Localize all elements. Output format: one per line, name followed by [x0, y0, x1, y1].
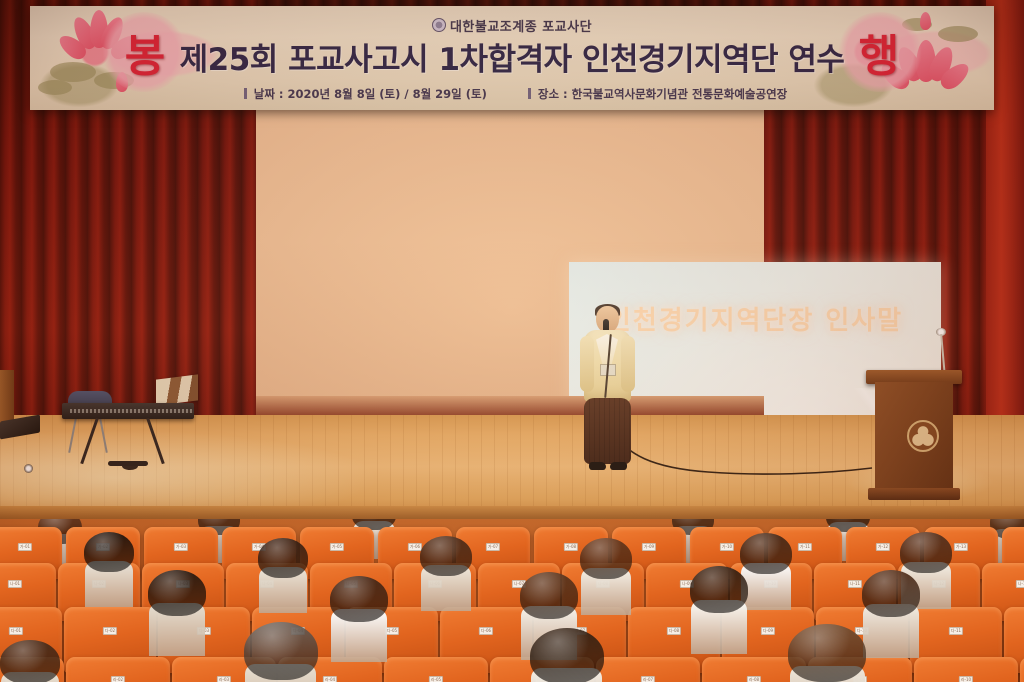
seat-number-label: 다-01 [9, 627, 23, 635]
banner-subline: 날짜 : 2020년 8월 8일 (토) / 8월 29일 (토)장소 : 한국… [30, 86, 994, 102]
seat-number-label: 라-10 [959, 676, 973, 682]
audience-member-head [580, 538, 632, 579]
banner-organization-line: 대한불교조계종 포교사단 [30, 16, 994, 35]
audience-member-head [258, 538, 308, 578]
audience-seat: 라-07 [596, 657, 700, 682]
lectern-base [868, 488, 960, 500]
seat-number-label: 가-08 [564, 543, 578, 551]
sheet-music [156, 374, 198, 405]
audience-member-head [862, 570, 920, 617]
seat-number-label: 다-02 [103, 627, 117, 635]
seat-number-label: 가-01 [18, 543, 32, 551]
keyboard-stand-right [146, 418, 164, 464]
keyboard-stand-foot [108, 461, 148, 466]
audience-seat: 라-11 [1020, 657, 1024, 682]
banner-date-label: 날짜 : 2020년 8월 8일 (토) / 8월 29일 (토) [254, 87, 487, 101]
presenter-shoe-left [589, 462, 606, 470]
audience-member-head [520, 572, 578, 619]
three-circle-emblem-icon [907, 420, 939, 452]
seat-number-label: 다-08 [667, 627, 681, 635]
seat-number-label: 라-02 [111, 676, 125, 682]
keyboard-body [62, 403, 194, 419]
event-banner: 봉 행 대한불교조계종 포교사단 제25회 포교사고시 1차합격자 인천경기지역… [30, 6, 994, 110]
banner-organization-text: 대한불교조계종 포교사단 [450, 20, 592, 35]
seat-number-label: 가-12 [876, 543, 890, 551]
seat-number-label: 가-11 [798, 543, 812, 551]
audience-member-head [690, 566, 748, 613]
seat-number-label: 다-06 [479, 627, 493, 635]
banner-headline: 제25회 포교사고시 1차합격자 인천경기지역단 연수 [30, 34, 994, 79]
seat-number-label: 라-08 [747, 676, 761, 682]
projection-wall-panel: 인천경기지역단장 인사말 [256, 108, 764, 404]
microphone-cable [612, 432, 874, 480]
seat-number-label: 다-11 [949, 627, 963, 635]
presenter-shoe-right [610, 462, 627, 470]
audience-member-head [330, 576, 388, 622]
seat-number-label: 가-13 [954, 543, 968, 551]
seat-number-label: 다-05 [385, 627, 399, 635]
audience-seating: 가-01가-02가-03가-04가-05가-06가-07가-08가-09가-10… [0, 519, 1024, 682]
audience-member-head [900, 532, 952, 573]
lectern-body [875, 382, 953, 490]
seat-number-label: 라-03 [217, 676, 231, 682]
banner-place-label: 장소 : 한국불교역사문화기념관 전통문화예술공연장 [538, 87, 787, 101]
seat-number-label: 나-13 [1016, 580, 1024, 588]
audience-member-head [420, 536, 472, 576]
audience-member-head [788, 624, 866, 682]
lectern [866, 370, 962, 508]
seat-number-label: 다-09 [761, 627, 775, 635]
audience-member-head [148, 570, 206, 616]
presenter-pants [584, 398, 631, 464]
audience-seat: 라-02 [66, 657, 170, 682]
seat-number-label: 가-09 [642, 543, 656, 551]
chair-leg-right [98, 413, 108, 453]
presenter [576, 306, 638, 478]
subline-separator-2 [528, 88, 531, 99]
stage-left-post [0, 370, 14, 424]
auditorium-photo: 인천경기지역단장 인사말 봉 행 [0, 0, 1024, 682]
buddhist-wheel-emblem-icon [432, 18, 446, 32]
audience-seat: 라-10 [914, 657, 1018, 682]
seat-number-label: 가-05 [330, 543, 344, 551]
seat-number-label: 라-07 [641, 676, 655, 682]
stage-floor-light [24, 464, 33, 473]
audience-member-head [84, 532, 134, 572]
subline-separator-1 [244, 88, 247, 99]
keyboard-keys [70, 409, 194, 413]
audience-member-head [740, 533, 792, 574]
seat-number-label: 라-04 [323, 676, 337, 682]
audience-seat: 라-05 [384, 657, 488, 682]
seat-number-label: 가-03 [174, 543, 188, 551]
presenter-arm-left [580, 336, 594, 392]
seat-number-label: 가-07 [486, 543, 500, 551]
keyboard-stand-left [80, 418, 98, 464]
seat-number-label: 나-11 [848, 580, 862, 588]
microphone-cable-path [612, 432, 874, 480]
audience-member-head [530, 628, 604, 682]
chair-leg-left [68, 413, 78, 453]
seat-number-label: 가-10 [720, 543, 734, 551]
seat-number-label: 나-01 [8, 580, 22, 588]
seat-number-label: 라-05 [429, 676, 443, 682]
audience-member-head [0, 640, 60, 682]
electronic-keyboard [58, 395, 208, 475]
presenter-arm-right [621, 336, 635, 392]
audience-member-head [244, 622, 318, 680]
